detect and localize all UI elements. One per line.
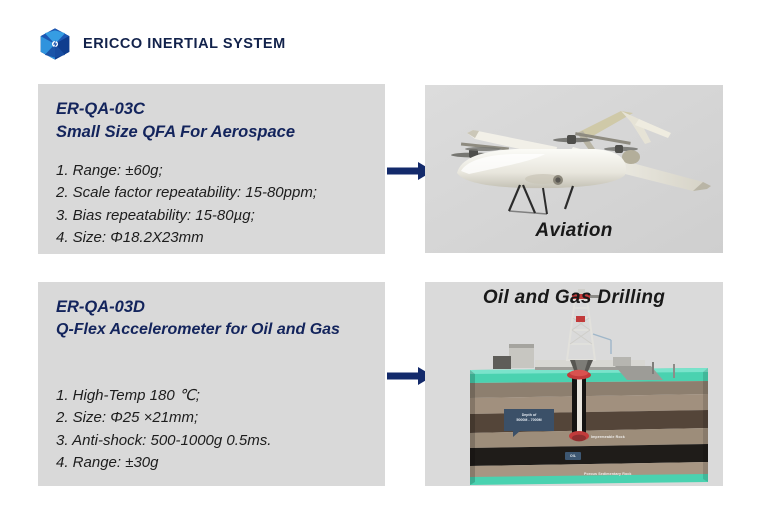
spec-item: 2. Scale factor repeatability: 15-80ppm; — [56, 182, 369, 205]
application-image-drilling: Depth of 5000M - 7000M Impermeable Rock … — [425, 282, 723, 486]
caption-drilling: Oil and Gas Drilling — [425, 287, 723, 309]
spec-item: 1. Range: ±60g; — [56, 160, 369, 183]
label-porous-sedimentary-rock: Porous Sedimentary Rock — [584, 472, 632, 476]
depth-callout-value: 5000M - 7000M — [504, 418, 554, 423]
brand-header: ERICCO INERTIAL SYSTEM — [38, 27, 286, 61]
ericco-hexagon-logo-icon — [38, 27, 72, 61]
product-subtitle-1: Small Size QFA For Aerospace — [56, 121, 369, 144]
spec-item: 4. Range: ±30g — [56, 452, 369, 475]
spec-list-2: 1. High-Temp 180 ℃; 2. Size: Φ25 ×21mm; … — [56, 385, 369, 475]
spec-item: 3. Bias repeatability: 15-80µg; — [56, 205, 369, 228]
spec-item: 1. High-Temp 180 ℃; — [56, 385, 369, 408]
spec-item: 4. Size: Φ18.2X23mm — [56, 227, 369, 250]
spec-item: 3. Anti-shock: 500-1000g 0.5ms. — [56, 430, 369, 453]
caption-aviation: Aviation — [425, 220, 723, 242]
company-name: ERICCO INERTIAL SYSTEM — [83, 36, 286, 52]
spec-list-1: 1. Range: ±60g; 2. Scale factor repeatab… — [56, 160, 369, 250]
label-impermeable-rock: Impermeable Rock — [591, 435, 625, 439]
product-model-2: ER-QA-03D — [56, 296, 369, 319]
product-model-1: ER-QA-03C — [56, 98, 369, 121]
label-oil: OIL — [565, 452, 581, 460]
application-image-aviation: Aviation — [425, 85, 723, 253]
spec-panel-er-qa-03c: ER-QA-03C Small Size QFA For Aerospace 1… — [38, 84, 385, 254]
product-subtitle-2: Q-Flex Accelerometer for Oil and Gas — [56, 319, 369, 341]
depth-callout: Depth of 5000M - 7000M — [504, 409, 554, 431]
spec-item: 2. Size: Φ25 ×21mm; — [56, 407, 369, 430]
spec-panel-er-qa-03d: ER-QA-03D Q-Flex Accelerometer for Oil a… — [38, 282, 385, 486]
